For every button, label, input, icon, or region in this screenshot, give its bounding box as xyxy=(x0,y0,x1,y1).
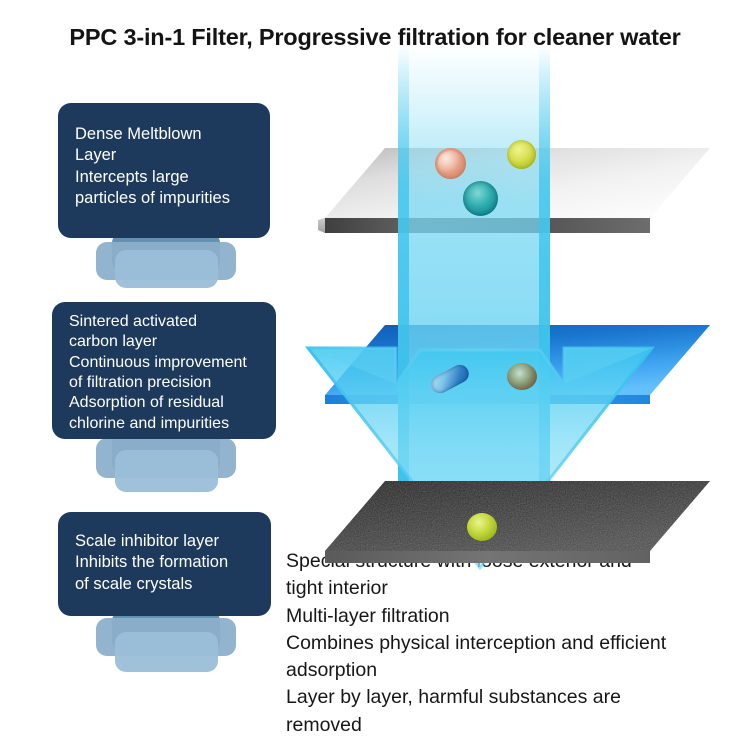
info-line: Dense Meltblown xyxy=(75,124,254,145)
connector-segment xyxy=(115,450,218,492)
info-line: Adsorption of residual xyxy=(69,393,260,413)
info-line: of filtration precision xyxy=(69,373,260,393)
info-line: Sintered activated xyxy=(69,312,260,332)
infographic-canvas: PPC 3-in-1 Filter, Progressive filtratio… xyxy=(0,0,750,750)
impurity-particle-pink xyxy=(435,148,466,179)
impurity-particle-teal xyxy=(463,181,498,216)
info-line: Layer xyxy=(75,145,254,166)
info-line: Inhibits the formation xyxy=(75,552,255,573)
connector-2 xyxy=(96,430,236,518)
info-line: particles of impurities xyxy=(75,188,254,209)
impurity-particle-yellow xyxy=(507,140,536,169)
info-line: of scale crystals xyxy=(75,574,255,595)
info-line: Continuous improvement xyxy=(69,353,260,373)
connector-1 xyxy=(96,232,236,310)
connector-segment xyxy=(115,250,218,288)
info-line: Intercepts large xyxy=(75,167,254,188)
info-line: Scale inhibitor layer xyxy=(75,531,255,552)
scale-particle-green xyxy=(467,513,497,541)
info-line: chlorine and impurities xyxy=(69,414,260,434)
feature-line: adsorption xyxy=(286,657,744,684)
feature-line: removed xyxy=(286,712,744,739)
info-box-scale-inhibitor-layer: Scale inhibitor layer Inhibits the forma… xyxy=(58,512,271,616)
connector-segment xyxy=(115,632,218,672)
feature-line: Layer by layer, harmful substances are xyxy=(286,684,744,711)
feature-line: Combines physical interception and effic… xyxy=(286,630,744,657)
water-column xyxy=(398,45,550,500)
info-box-sintered-activated-carbon-layer: Sintered activated carbon layer Continuo… xyxy=(52,302,276,439)
info-line: carbon layer xyxy=(69,332,260,352)
info-box-dense-meltblown-layer: Dense Meltblown Layer Intercepts large p… xyxy=(58,103,270,238)
feature-line: Multi-layer filtration xyxy=(286,603,744,630)
connector-3 xyxy=(96,610,236,692)
residue-particle-brown xyxy=(507,363,537,390)
filter-diagram xyxy=(270,45,750,555)
